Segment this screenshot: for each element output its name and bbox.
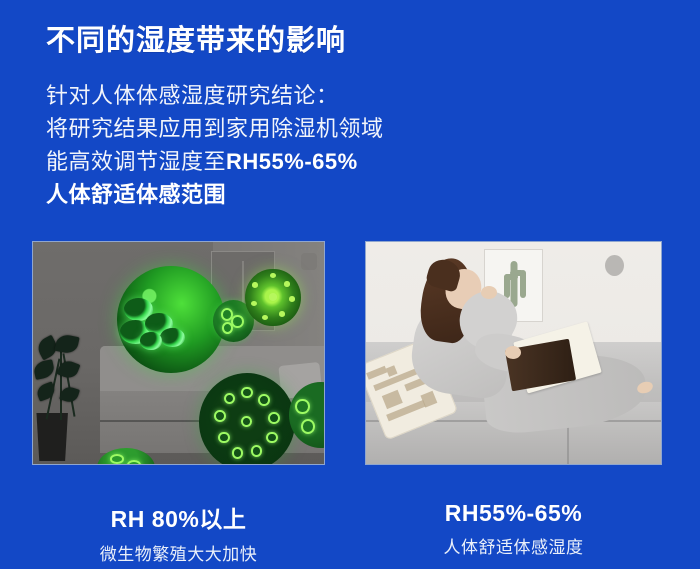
potted-plant — [33, 335, 97, 464]
plant-pot — [34, 413, 70, 462]
body-copy-line-4: 人体舒适体感范围 — [46, 178, 506, 211]
body-copy-line-2: 将研究结果应用到家用除湿机领域 — [46, 112, 506, 145]
germ-top-right — [245, 269, 300, 327]
caption-right-title: RH55%-65% — [365, 500, 662, 527]
wall-speaker-icon — [301, 253, 317, 270]
body-copy-line-3-plain: 能高效调节湿度至 — [46, 149, 226, 174]
body-copy-block: 针对人体体感湿度研究结论： 将研究结果应用到家用除湿机领域 能高效调节湿度至RH… — [46, 79, 506, 211]
caption-left-subtitle: 微生物繁殖大大加快 — [32, 540, 325, 565]
image-panel-comfort-humidity — [365, 241, 662, 465]
body-copy-line-1: 针对人体体感湿度研究结论： — [46, 79, 506, 112]
caption-left-title: RH 80%以上 — [32, 500, 325, 534]
page-title: 不同的湿度带来的影响 — [46, 17, 346, 59]
cactus-icon — [510, 261, 517, 307]
body-copy-line-3: 能高效调节湿度至RH55%-65% — [46, 145, 506, 178]
dark-room-scene — [33, 242, 324, 464]
humidity-range-value: RH55%-65% — [226, 149, 358, 174]
person-hand-on-book — [505, 346, 521, 359]
wall-speaker-icon — [605, 255, 624, 276]
caption-right: RH55%-65% 人体舒适体感湿度 — [365, 500, 662, 558]
image-panel-high-humidity — [32, 241, 325, 465]
poster-root: 不同的湿度带来的影响 针对人体体感湿度研究结论： 将研究结果应用到家用除湿机领域… — [0, 0, 700, 569]
light-room-scene — [366, 242, 661, 464]
caption-left: RH 80%以上 微生物繁殖大大加快 — [32, 500, 325, 565]
germ-cluster-large — [117, 266, 225, 373]
germ-bottom-center — [199, 373, 295, 465]
caption-right-subtitle: 人体舒适体感湿度 — [365, 533, 662, 558]
